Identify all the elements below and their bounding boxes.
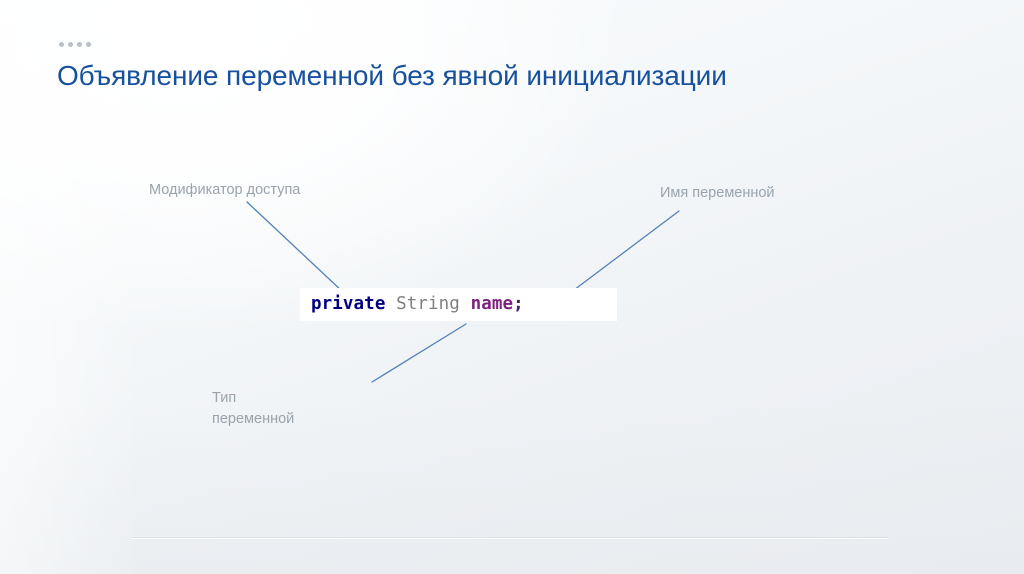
annotation-label-variable-name: Имя переменной bbox=[660, 183, 775, 204]
annotation-label-modifier: Модификатор доступа bbox=[149, 180, 300, 201]
code-token-type: String bbox=[396, 294, 460, 314]
code-token-keyword: private bbox=[311, 294, 385, 314]
code-line: private String name; bbox=[300, 288, 524, 321]
code-token-space-2 bbox=[460, 294, 471, 314]
slide-canvas: Объявление переменной без явной инициали… bbox=[0, 0, 1024, 574]
annotation-label-variable-type: Тип переменной bbox=[212, 388, 294, 430]
code-token-space-1 bbox=[385, 294, 396, 314]
connector-line-modifier bbox=[247, 202, 343, 292]
connector-lines bbox=[0, 0, 1024, 574]
code-snippet-box: private String name; bbox=[300, 288, 617, 321]
connector-line-varname bbox=[566, 211, 679, 296]
connector-line-type bbox=[372, 324, 466, 382]
code-token-identifier: name bbox=[471, 294, 514, 314]
code-token-semicolon: ; bbox=[513, 294, 524, 314]
footer-divider bbox=[131, 537, 889, 538]
